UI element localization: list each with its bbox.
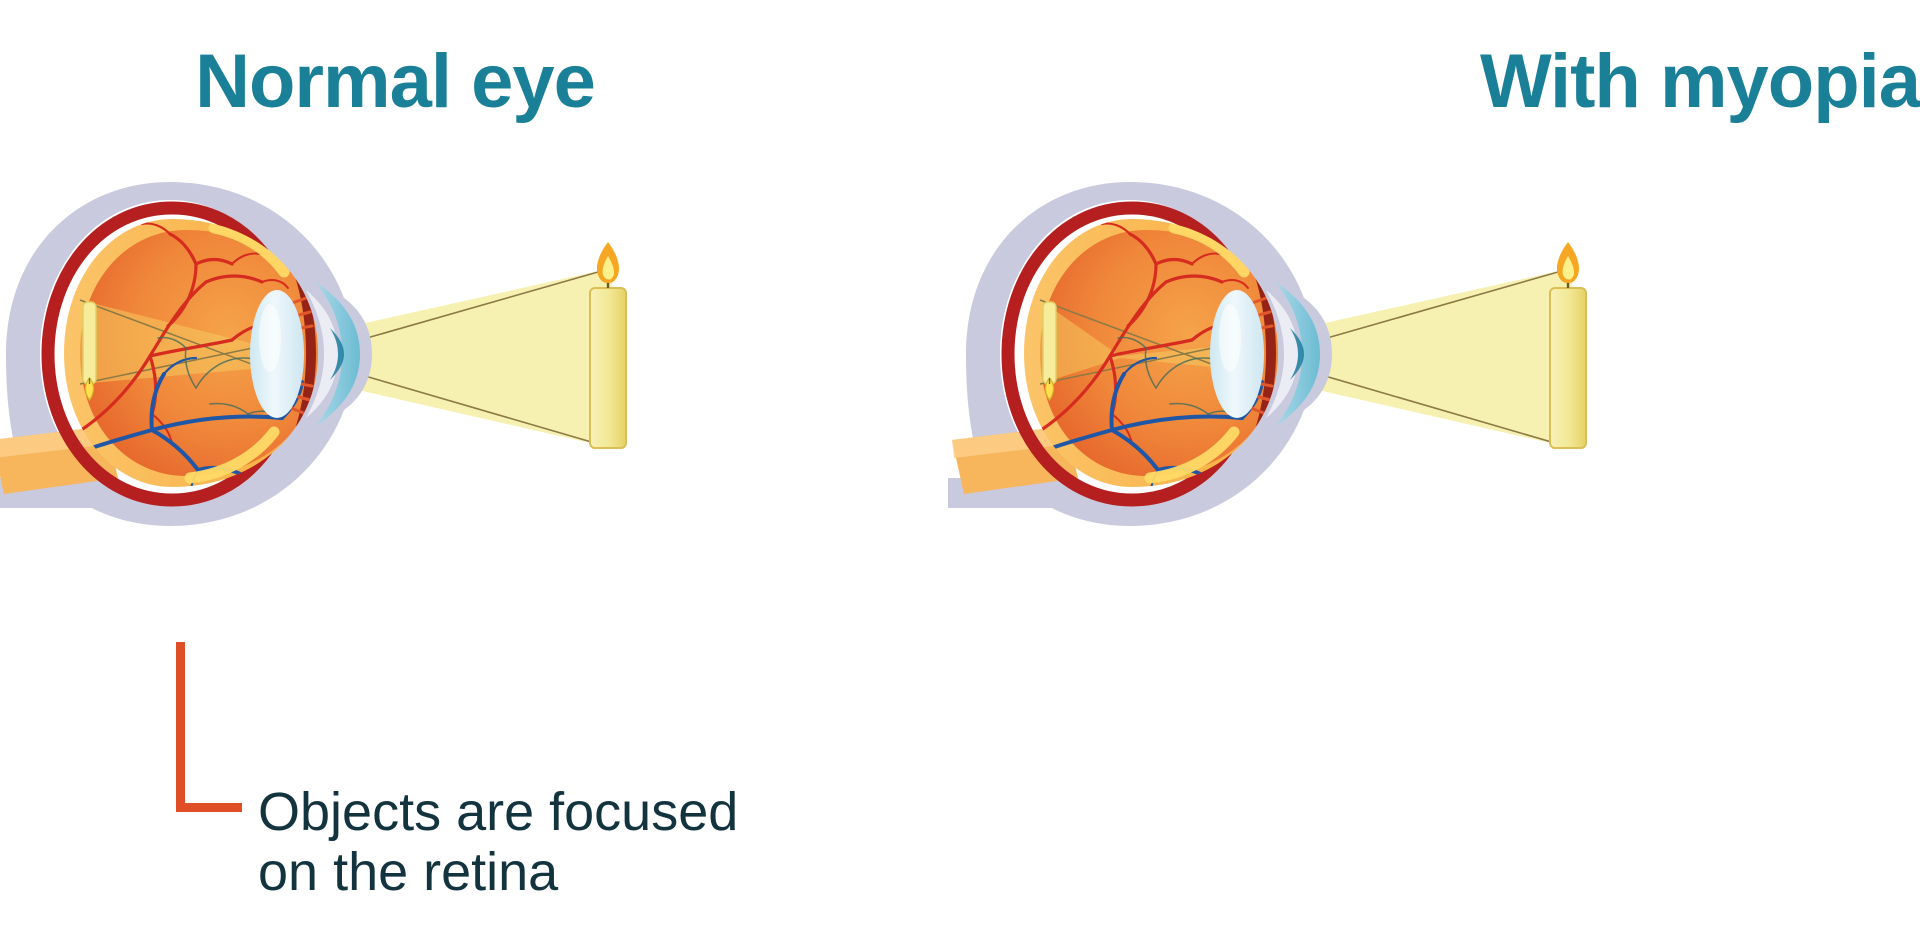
panel-title-normal-eye: Normal eye (0, 44, 875, 120)
eye-cross-section-icon (0, 178, 960, 528)
lens-highlight (1219, 304, 1241, 372)
panel-myopic-eye: With myopia (960, 0, 1920, 952)
candle-body (590, 288, 626, 448)
caption-line-2: on the retina (258, 842, 898, 902)
candle-body (1550, 288, 1586, 448)
bracket-horizontal-bar (176, 803, 242, 812)
bracket-icon-normal (176, 642, 246, 812)
lens-highlight (259, 304, 281, 372)
bracket-vertical-bar (176, 642, 185, 812)
caption-normal-eye: Objects are focused on the retina (258, 782, 898, 903)
panel-normal-eye: Normal eye (0, 0, 960, 952)
caption-line-1: Objects are focused (258, 782, 898, 842)
eye-cross-section-icon (960, 178, 1920, 528)
diagram-canvas: Normal eye (0, 0, 1920, 952)
eye-illustration-myopia (960, 178, 1920, 528)
eye-illustration-normal (0, 178, 960, 528)
panel-title-myopia: With myopia (1220, 44, 1920, 120)
